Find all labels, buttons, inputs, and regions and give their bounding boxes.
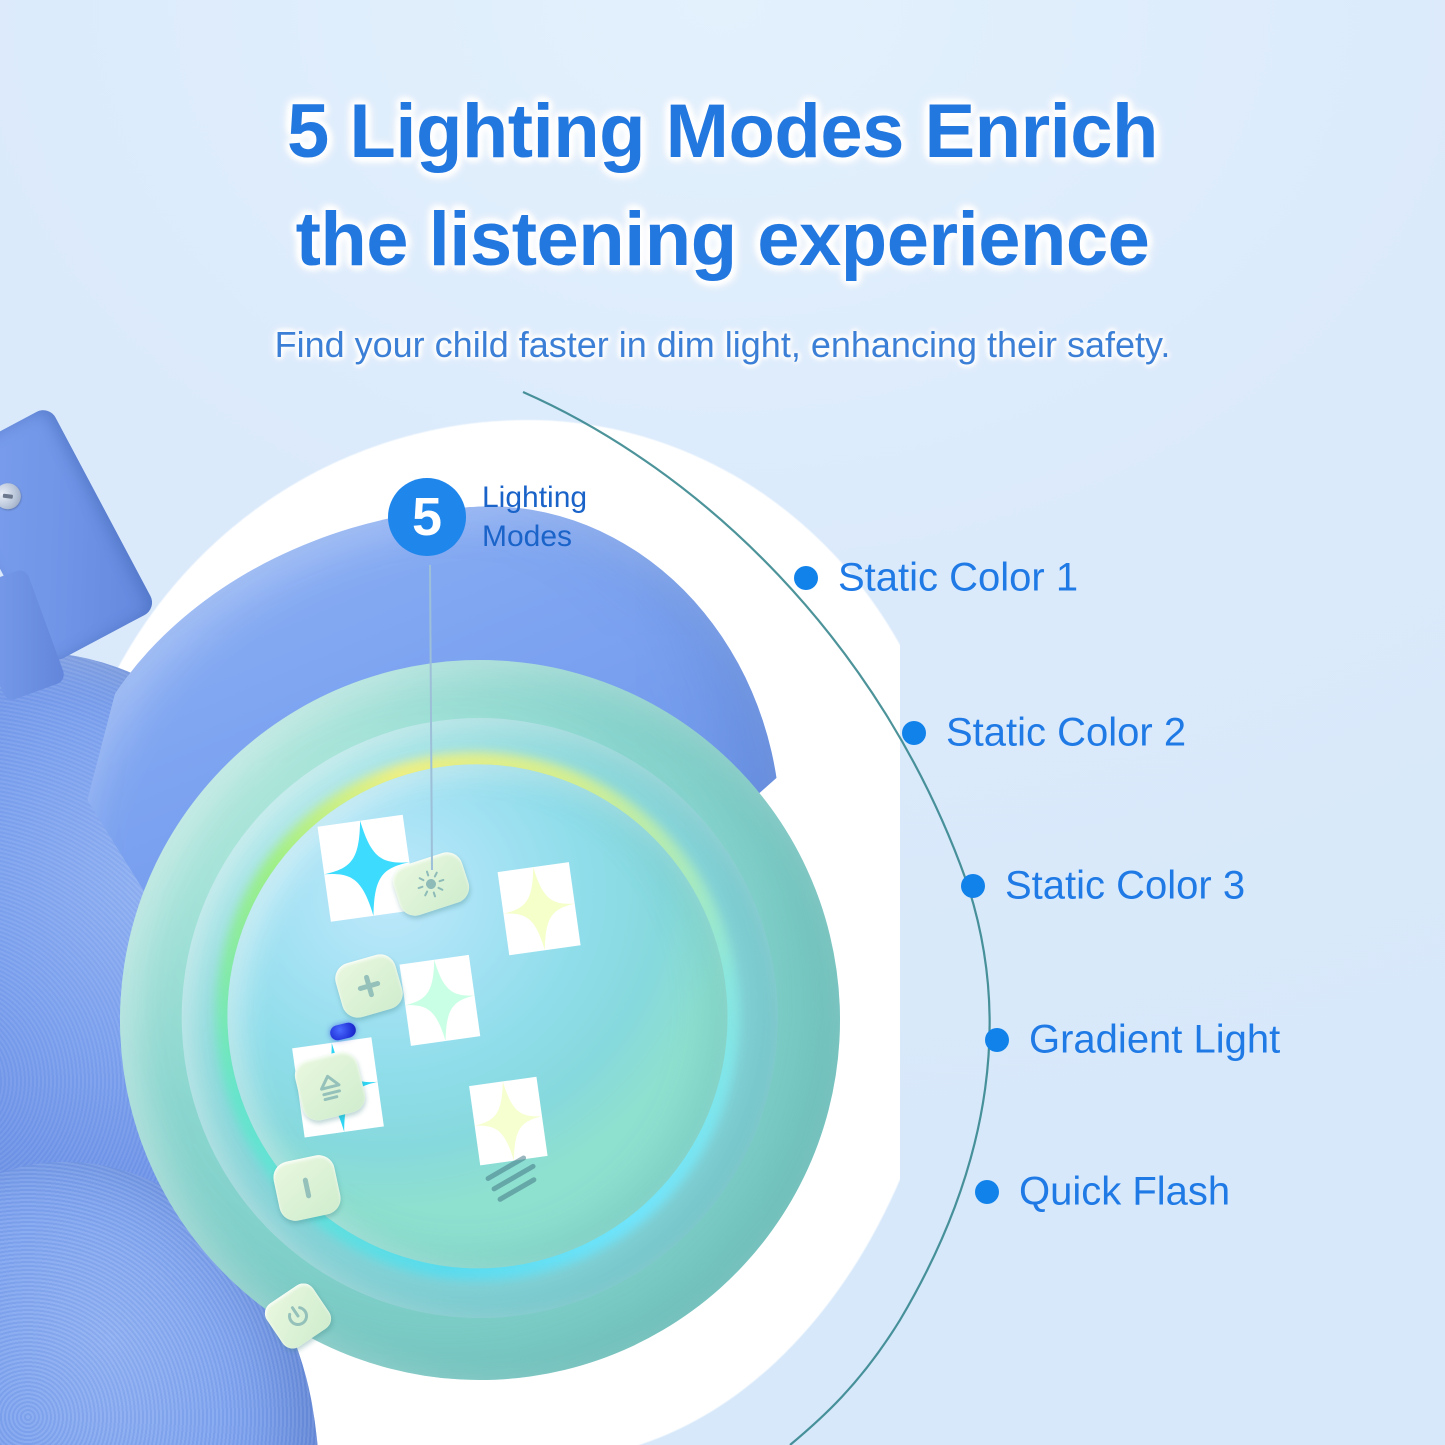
mode-dot[interactable] (902, 721, 926, 745)
page-title: 5 Lighting Modes Enrich the listening ex… (0, 78, 1445, 294)
mode-dot[interactable] (975, 1180, 999, 1204)
headband-screw (0, 479, 25, 514)
sparkle-star-icon (400, 955, 481, 1046)
lighting-modes-badge: 5 Lighting Modes (388, 478, 587, 556)
promo-graphic: 5 Lighting Modes Enrich the listening ex… (0, 0, 1445, 1445)
mode-label-static-color-2: Static Color 2 (946, 711, 1186, 756)
minus-icon (289, 1170, 325, 1206)
badge-label-line-1: Lighting (482, 478, 587, 517)
headline-line-1: 5 Lighting Modes Enrich (287, 89, 1158, 174)
mode-dot[interactable] (794, 566, 818, 590)
sun-icon (412, 865, 450, 903)
mode-dot[interactable] (961, 874, 985, 898)
badge-label: Lighting Modes (482, 478, 587, 556)
plus-icon (350, 967, 387, 1004)
mode-label-static-color-3: Static Color 3 (1005, 864, 1245, 909)
headline-line-2: the listening experience (0, 186, 1445, 294)
badge-count: 5 (388, 478, 466, 556)
power-icon (280, 1298, 316, 1334)
sparkle-star-icon (498, 862, 581, 955)
subtitle: Find your child faster in dim light, enh… (0, 322, 1445, 369)
mode-label-gradient-light: Gradient Light (1029, 1018, 1280, 1063)
product-photo: ear (0, 400, 900, 1445)
mode-label-quick-flash: Quick Flash (1019, 1170, 1230, 1215)
badge-label-line-2: Modes (482, 517, 587, 556)
mode-dot[interactable] (985, 1028, 1009, 1052)
mode-label-static-color-1: Static Color 1 (838, 556, 1078, 601)
play-lines-icon (311, 1067, 350, 1106)
